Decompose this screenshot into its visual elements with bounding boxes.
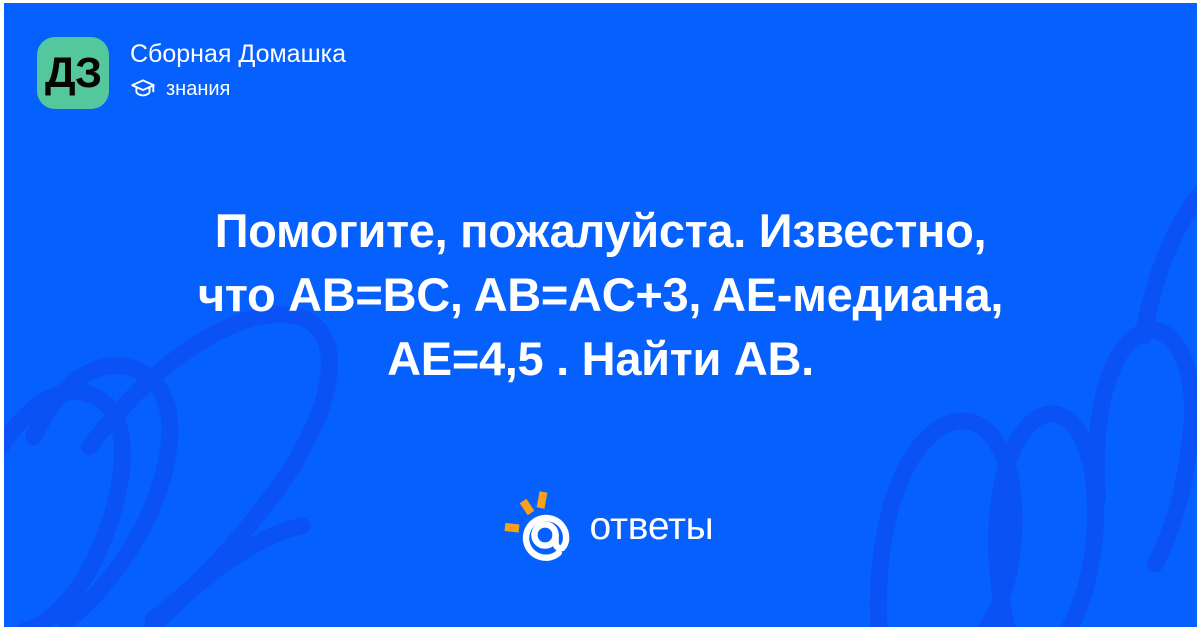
header: ДЗ Сборная Домашка знания (37, 37, 346, 109)
question-title-line-3: AE=4,5 . Найти AB. (134, 327, 1067, 391)
brand-title: Сборная Домашка (130, 39, 346, 69)
at-sign-with-rays-icon (487, 487, 583, 567)
share-card: ДЗ Сборная Домашка знания Помогите, пожа… (0, 0, 1200, 630)
question-title: Помогите, пожалуйста. Известно, что AB=B… (4, 199, 1197, 391)
dz-logo-badge[interactable]: ДЗ (37, 37, 109, 109)
question-title-line-2: что AB=BC, AB=AC+3, AE-медиана, (134, 263, 1067, 327)
otvety-logo[interactable]: ответы (4, 487, 1197, 567)
otvety-logo-text: ответы (589, 505, 713, 549)
brand-subtitle-text: знания (166, 77, 230, 101)
graduation-cap-icon (130, 76, 156, 102)
dz-logo-badge-text: ДЗ (45, 52, 101, 95)
brand-text-group: Сборная Домашка знания (130, 37, 346, 102)
brand-subtitle-row: знания (130, 76, 346, 102)
question-title-line-1: Помогите, пожалуйста. Известно, (134, 199, 1067, 263)
